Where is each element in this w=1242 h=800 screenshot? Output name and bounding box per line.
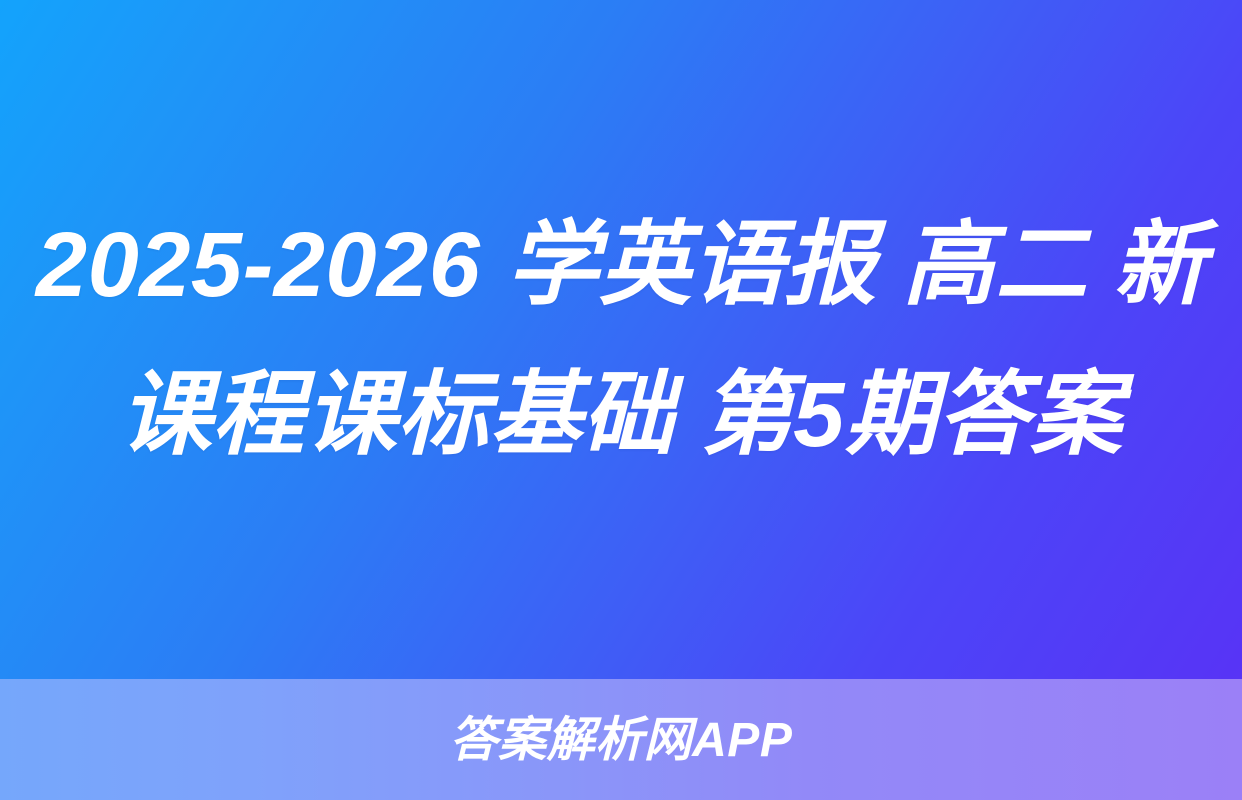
title-area: 2025-2026 学英语报 高二 新课程课标基础 第5期答案 — [0, 0, 1242, 679]
footer-brand-label: 答案解析网APP — [450, 717, 793, 765]
footer-brand-band: 答案解析网APP — [0, 679, 1242, 800]
poster-card: 2025-2026 学英语报 高二 新课程课标基础 第5期答案 答案解析网APP — [0, 0, 1242, 800]
page-title: 2025-2026 学英语报 高二 新课程课标基础 第5期答案 — [28, 190, 1214, 490]
